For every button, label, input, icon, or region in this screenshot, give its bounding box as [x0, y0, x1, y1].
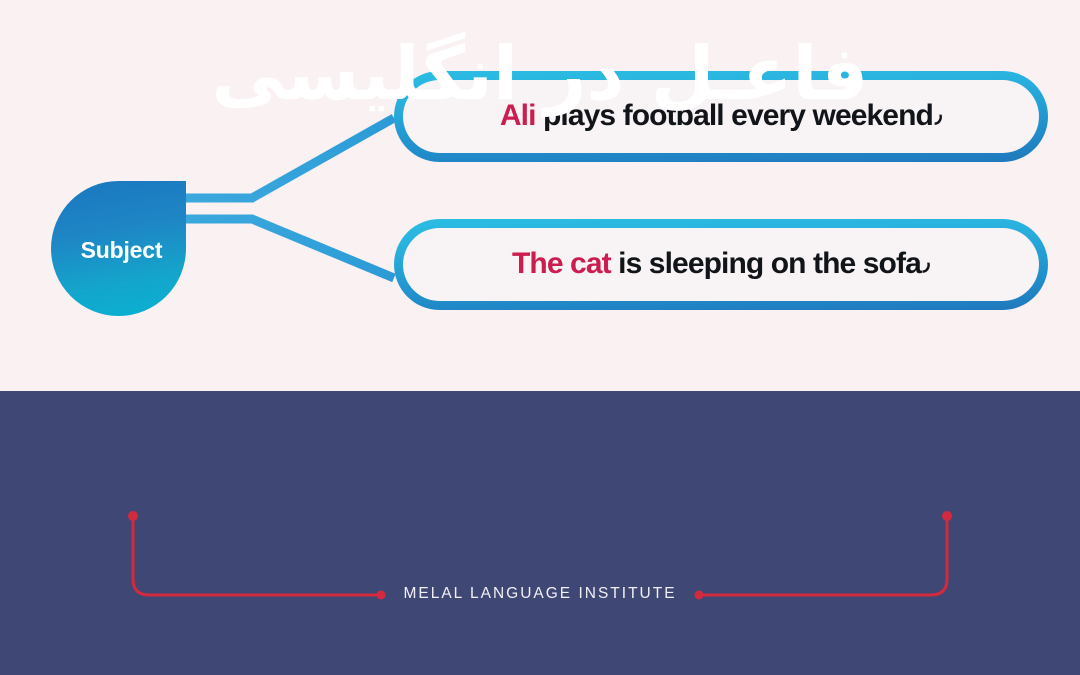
- page-title-persian: فاعـل در انگلیسی: [0, 28, 1080, 121]
- infographic-canvas: Subject Ali plays football every weekend…: [0, 0, 1080, 675]
- connector-branch-1: [182, 118, 394, 198]
- institute-name: MELAL LANGUAGE INSTITUTE: [0, 585, 1080, 603]
- title-panel: [0, 391, 1080, 675]
- root-node-label: Subject: [75, 233, 163, 264]
- connector-branch-2: [182, 219, 394, 278]
- example-2-terminator: ٫: [921, 250, 930, 275]
- example-sentence-2: The cat is sleeping on the sofa٫: [512, 249, 930, 281]
- example-card-2[interactable]: The cat is sleeping on the sofa٫: [394, 219, 1048, 310]
- example-2-predicate: is sleeping on the sofa: [618, 247, 921, 280]
- example-2-subject: The cat: [512, 247, 611, 280]
- root-node-subject[interactable]: Subject: [51, 181, 186, 316]
- example-card-2-inner: The cat is sleeping on the sofa٫: [403, 228, 1039, 301]
